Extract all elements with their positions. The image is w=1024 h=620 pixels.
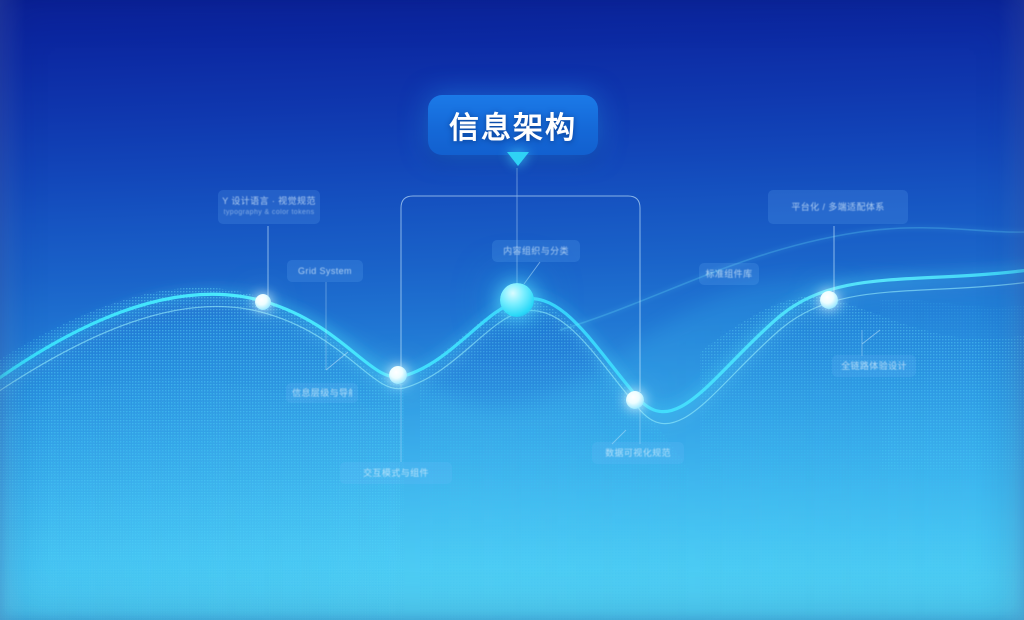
leader-right-outer — [862, 330, 880, 344]
node-label-chip[interactable]: 平台化 / 多端适配体系 — [768, 190, 908, 224]
wave-node-dot[interactable] — [500, 283, 534, 317]
down-caret-icon — [507, 152, 529, 166]
wave-mesh-left — [0, 288, 404, 620]
wave-back — [0, 277, 1024, 620]
node-label-chip[interactable]: 全链路体验设计 — [832, 355, 916, 377]
node-label-text: 信息层级与导航 — [292, 388, 352, 399]
node-label-chip[interactable]: 标准组件库 — [699, 263, 759, 285]
node-label-text: 标准组件库 — [705, 269, 752, 280]
node-label-text: 全链路体验设计 — [841, 361, 907, 372]
node-label-text: 内容组织与分类 — [503, 246, 569, 257]
node-label-chip[interactable]: 内容组织与分类 — [492, 240, 580, 262]
node-label-text: 平台化 / 多端适配体系 — [791, 202, 884, 213]
node-label-chip[interactable]: 交互模式与组件 — [340, 462, 452, 484]
wave-mesh-shelf — [0, 379, 404, 620]
wave-mesh-right — [700, 296, 1024, 620]
node-label-chip[interactable]: Grid System — [287, 260, 363, 282]
title-branch-bracket — [401, 196, 640, 226]
node-label-chip[interactable]: 信息层级与导航 — [286, 383, 358, 403]
page-title: 信息架构 — [449, 103, 577, 147]
wave-node-dot[interactable] — [255, 294, 271, 310]
node-label-text: Grid System — [298, 266, 352, 277]
leader-left-inner — [326, 352, 348, 370]
node-label-chip[interactable]: Y 设计语言 · 视觉规范typography & color tokens — [218, 190, 320, 224]
node-label-text: 数据可视化规范 — [605, 448, 671, 459]
wave-node-dot[interactable] — [820, 291, 838, 309]
wave-node-dot[interactable] — [626, 391, 644, 409]
node-label-text: Y 设计语言 · 视觉规范 — [222, 196, 316, 207]
page-title-pill[interactable]: 信息架构 — [428, 95, 598, 155]
wave-node-dot[interactable] — [389, 366, 407, 384]
leader-center — [524, 262, 540, 284]
wave-secondary — [560, 228, 1024, 330]
infographic-canvas: 信息架构 Y 设计语言 · 视觉规范typography & color tok… — [0, 0, 1024, 620]
node-sublabel-text: typography & color tokens — [224, 207, 315, 218]
node-label-chip[interactable]: 数据可视化规范 — [592, 442, 684, 464]
node-label-text: 交互模式与组件 — [363, 468, 429, 479]
